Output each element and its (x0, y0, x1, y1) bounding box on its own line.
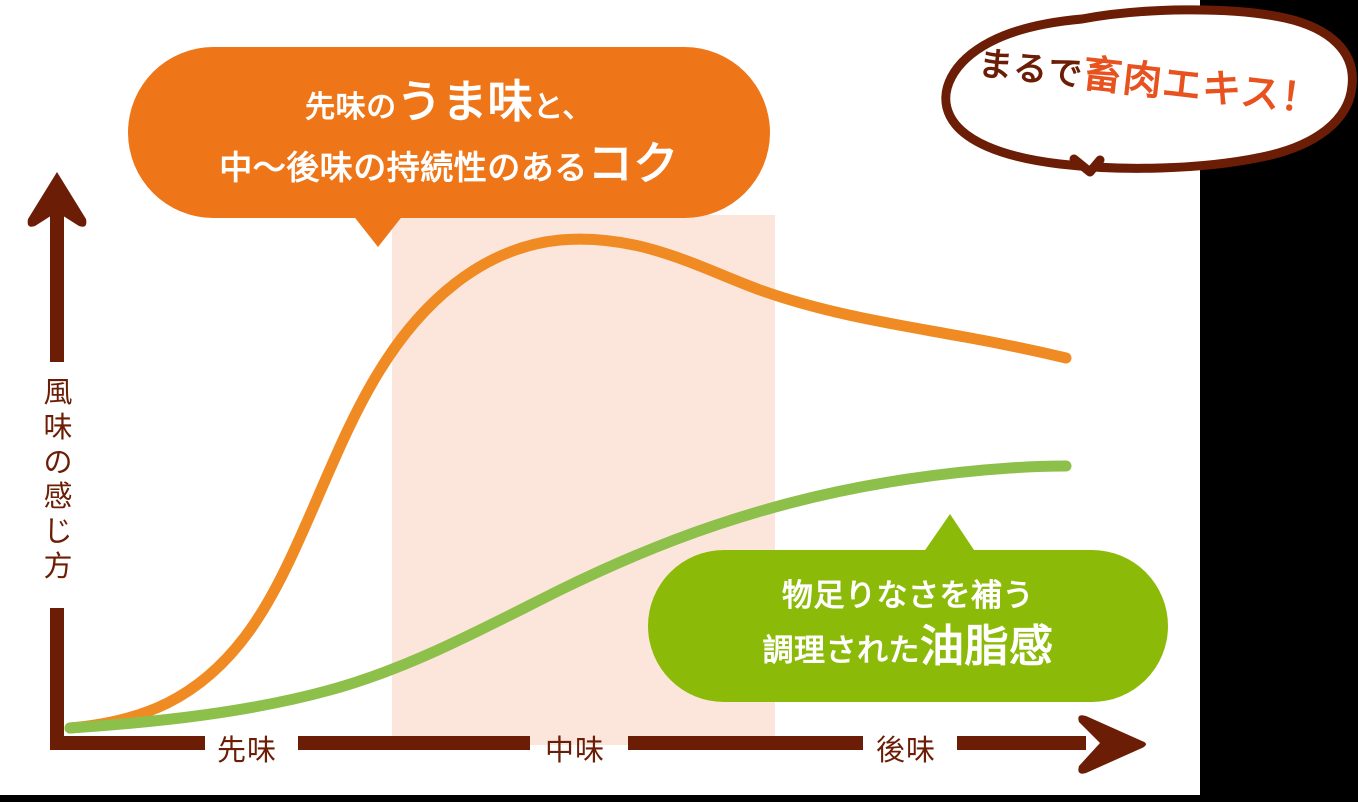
y-axis-line (50, 608, 64, 750)
x-axis-arrow-head (1078, 715, 1146, 773)
callout-extract-text-a: まるで (976, 44, 1085, 96)
callout-fat-line2-b: 油脂感 (920, 621, 1054, 672)
x-axis-tick-naka-aji: 中味 (545, 727, 605, 769)
x-axis-tick-ato-aji: 後味 (876, 727, 936, 769)
callout-fat-line1: 物足りなさを補う (782, 577, 1034, 617)
x-axis-tick-saki-aji: 先味 (217, 727, 277, 769)
callout-umami: 先味のうま味と、 中〜後味の持続性のあるコク (128, 47, 770, 218)
callout-umami-line1-c: と、 (533, 90, 593, 125)
y-axis-label-char: 風 (36, 375, 80, 410)
y-axis-label-char: の (36, 445, 80, 480)
y-axis-arrow (28, 172, 87, 362)
y-axis-label-char: 味 (36, 410, 80, 445)
callout-fat-line2: 調理された油脂感 (763, 619, 1054, 675)
callout-fat-line2-a: 調理された (763, 633, 921, 669)
callout-umami-line2: 中〜後味の持続性のあるコク (219, 135, 679, 193)
callout-fat: 物足りなさを補う 調理された油脂感 (648, 550, 1168, 702)
callout-umami-line1-b: うま味 (397, 75, 534, 128)
callout-umami-line1-a: 先味の (305, 90, 397, 125)
y-axis-label-char: じ (36, 514, 80, 549)
y-axis-label-char: 感 (36, 479, 80, 514)
callout-extract: まるで畜肉エキス！ (928, 6, 1358, 181)
callout-umami-line1: 先味のうま味と、 (305, 73, 593, 131)
callout-extract-text: まるで畜肉エキス！ (968, 30, 1332, 126)
callout-extract-text-b: 畜肉エキス！ (1081, 52, 1323, 124)
y-axis-label: 風 味 の 感 じ 方 (36, 375, 80, 584)
callout-umami-line2-b: コク (588, 137, 679, 190)
infographic-canvas: 風 味 の 感 じ 方 先味 中味 後味 先味のうま味と、 中〜後味の持続性のあ… (0, 0, 1358, 802)
y-axis-label-char: 方 (36, 549, 80, 584)
callout-umami-line2-a: 中〜後味の持続性のある (219, 148, 588, 187)
